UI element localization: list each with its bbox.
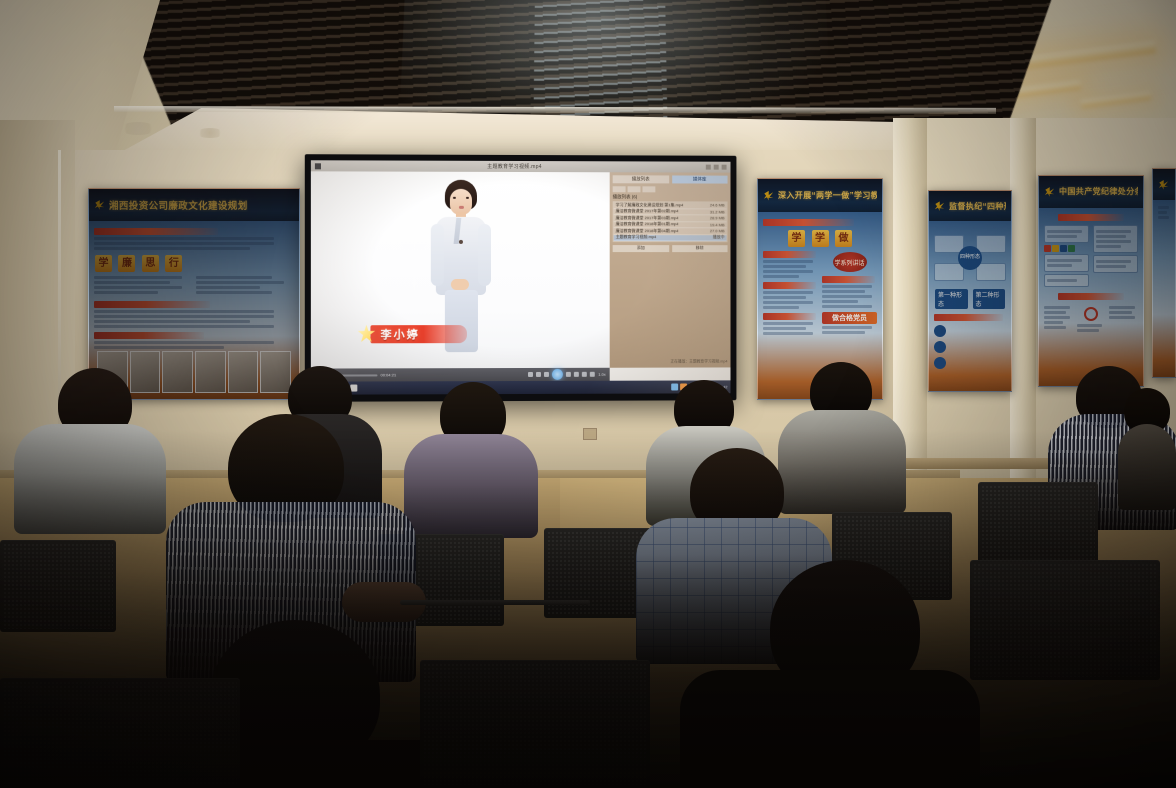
poster-text-line bbox=[763, 327, 806, 330]
poster-text-line bbox=[763, 265, 806, 268]
poster-photo bbox=[195, 351, 226, 393]
poster-text-line bbox=[1109, 311, 1131, 314]
poster-text-line bbox=[1047, 259, 1082, 262]
party-emblem-icon bbox=[934, 201, 945, 212]
poster-text-line bbox=[1044, 326, 1066, 329]
chair-mesh bbox=[3, 543, 113, 629]
party-emblem-icon bbox=[763, 190, 774, 201]
poster-column-left bbox=[1044, 304, 1073, 334]
chair-mesh bbox=[423, 663, 647, 785]
torso bbox=[680, 670, 980, 788]
poster-highlight-banner: 做合格党员 bbox=[822, 312, 877, 324]
toolbar-edit-button[interactable] bbox=[628, 186, 641, 192]
poster-subbox bbox=[1044, 274, 1089, 287]
poster-section-banner bbox=[1058, 293, 1124, 300]
poster-chip-row: 学 廉 思 行 bbox=[94, 253, 294, 273]
poster-text-line bbox=[1109, 316, 1135, 319]
presenter-arm-right bbox=[478, 224, 491, 286]
playlist-item-name: 廉洁教育微课堂 2017年第03期.mp4 bbox=[616, 215, 679, 221]
poster-header: 湘西投资公司廉政文化建设规划 bbox=[89, 189, 299, 221]
close-icon[interactable] bbox=[722, 165, 727, 170]
playlist-item-name: 廉洁教育微课堂 2018年第01期.mp4 bbox=[616, 221, 679, 227]
fullscreen-icon[interactable] bbox=[590, 372, 595, 377]
poster-title: 湘西投资公司廉政文化建设规划 bbox=[109, 198, 248, 212]
person-mid-lavender bbox=[404, 382, 538, 532]
tab-playlist[interactable]: 播放列表 bbox=[613, 175, 669, 183]
chair-mesh bbox=[3, 681, 237, 785]
poster-text-line bbox=[822, 285, 872, 288]
app-logo-icon bbox=[315, 163, 321, 169]
presenter-eye-right bbox=[466, 197, 469, 199]
poster-text-line bbox=[94, 242, 274, 245]
poster-text-line bbox=[1158, 206, 1169, 209]
poster-text-line bbox=[1158, 211, 1167, 214]
presenter-name: 李小婷 bbox=[381, 326, 420, 342]
poster-text-line bbox=[94, 315, 274, 318]
poster-column-right bbox=[1093, 223, 1138, 289]
poster-title: 深入开展“两学一做”学习教育 bbox=[778, 190, 877, 201]
remove-button[interactable]: 移除 bbox=[672, 245, 728, 252]
torso bbox=[14, 424, 166, 534]
poster-chip-row: 学 学 做 bbox=[763, 228, 877, 248]
legend-swatch bbox=[1060, 245, 1067, 252]
diagram-node bbox=[934, 263, 964, 281]
diagram-node bbox=[976, 263, 1006, 281]
poster-text-line bbox=[763, 291, 813, 294]
poster-chip: 行 bbox=[165, 255, 182, 272]
poster-section-banner bbox=[934, 314, 1003, 321]
poster-column-right: 学系列讲话 做合格党员 bbox=[822, 248, 877, 337]
poster-text-line bbox=[1158, 216, 1169, 219]
legend-swatch bbox=[1068, 245, 1075, 252]
poster-column-mid bbox=[1077, 304, 1106, 334]
poster-chip: 思 bbox=[142, 255, 159, 272]
presenter-eye-left bbox=[453, 197, 456, 199]
poster-column-right bbox=[196, 274, 294, 296]
poster-section-banner bbox=[763, 219, 854, 226]
playlist-item-name: 学习了解廉政文化建设规划 第1集.mp4 bbox=[616, 202, 684, 208]
poster-board-jilv-chufen-tiaoli[interactable]: 中国共产党纪律处分条例 bbox=[1038, 175, 1144, 387]
poster-text-line bbox=[1077, 329, 1099, 332]
toolbar-view-button[interactable] bbox=[642, 186, 655, 192]
name-plate: 李小婷 bbox=[370, 325, 467, 343]
poster-bullet bbox=[934, 357, 1006, 369]
poster-text-line bbox=[1047, 230, 1082, 233]
maximize-icon[interactable] bbox=[714, 165, 719, 170]
presenter-mouth bbox=[459, 206, 464, 209]
poster-text-line bbox=[94, 276, 182, 279]
chair-seat[interactable] bbox=[978, 482, 1098, 570]
poster-column-left bbox=[94, 274, 192, 296]
playlist-item-selected[interactable]: 主题教育学习视频.mp4 播放中 bbox=[614, 235, 727, 242]
poster-chip: 第一种形态 bbox=[935, 289, 968, 309]
poster-text-line bbox=[94, 286, 182, 289]
playlist-item-size: 播放中 bbox=[713, 234, 725, 240]
poster-text-line bbox=[763, 322, 813, 325]
poster-header: 深入开展“两学一做”学习教育 bbox=[758, 179, 882, 212]
chair-seat[interactable] bbox=[0, 540, 116, 632]
poster-body: 四种形态 第一种形态 第二种形态 bbox=[929, 221, 1011, 391]
playlist-footer[interactable]: 添加 移除 bbox=[613, 245, 728, 252]
poster-text-line bbox=[94, 325, 274, 328]
poster-text-line bbox=[1109, 306, 1135, 309]
poster-chip: 廉 bbox=[118, 255, 135, 272]
presenter-arm-left bbox=[431, 224, 444, 286]
playlist-item-size: 31.2 MB bbox=[710, 209, 725, 214]
poster-text-line bbox=[822, 331, 865, 334]
poster-highlight-circle: 学系列讲话 bbox=[833, 252, 867, 272]
poster-chip: 第二种形态 bbox=[973, 289, 1006, 309]
playlist-toolbar[interactable] bbox=[613, 186, 728, 192]
poster-text-line bbox=[94, 237, 274, 240]
poster-columns bbox=[94, 274, 294, 296]
poster-board-sizhong-xingtai[interactable]: 监督执纪“四种形态” 四种形态 第一种形态 第二种形态 bbox=[928, 190, 1012, 392]
poster-body bbox=[1153, 200, 1175, 377]
poster-photo bbox=[228, 351, 259, 393]
poster-text-line bbox=[1044, 311, 1066, 314]
poster-bullet bbox=[934, 341, 1006, 353]
bullet-icon bbox=[934, 325, 946, 337]
play-pause-button[interactable] bbox=[552, 369, 563, 380]
poster-text-line bbox=[196, 291, 272, 294]
poster-section-banner bbox=[94, 301, 210, 308]
poster-text-line bbox=[822, 305, 872, 308]
poster-text-line bbox=[822, 290, 865, 293]
poster-text-line bbox=[1047, 235, 1077, 238]
poster-subbox bbox=[1093, 225, 1138, 253]
poster-text-line bbox=[763, 260, 813, 263]
minimize-icon[interactable] bbox=[706, 165, 711, 170]
poster-text-line bbox=[763, 301, 813, 304]
star-icon bbox=[356, 324, 376, 344]
poster-text-line bbox=[763, 296, 806, 299]
poster-text-line bbox=[1096, 260, 1131, 263]
poster-header: 监督执纪“四种形态” bbox=[929, 191, 1011, 221]
poster-text-line bbox=[763, 270, 813, 273]
playlist-item-size: 19.4 MB bbox=[710, 222, 725, 227]
poster-bullet bbox=[934, 325, 1006, 337]
volume-icon[interactable] bbox=[582, 372, 587, 377]
poster-text-line bbox=[94, 346, 224, 349]
person-front-silhouette bbox=[680, 560, 980, 788]
poster-column-left bbox=[1044, 223, 1089, 289]
ceiling-spot-2 bbox=[196, 128, 224, 138]
stop-icon[interactable] bbox=[544, 372, 549, 377]
playlist-item-name: 主题教育学习视频.mp4 bbox=[616, 234, 657, 240]
poster-board-zhongguo-gongchandang[interactable]: 中国共产党 bbox=[1152, 168, 1176, 378]
playlist-rows[interactable]: 学习了解廉政文化建设规划 第1集.mp4 24.6 MB 廉洁教育微课堂 201… bbox=[613, 201, 728, 242]
poster-body bbox=[1039, 208, 1143, 387]
add-button[interactable]: 添加 bbox=[613, 245, 669, 252]
poster-text-line bbox=[1047, 264, 1072, 267]
diagram-center: 四种形态 bbox=[958, 246, 982, 270]
poster-section-banner bbox=[763, 313, 816, 320]
playlist-tabs[interactable]: 播放列表 媒体库 bbox=[613, 175, 728, 183]
ceiling-spot-1 bbox=[120, 122, 156, 135]
now-playing-note: 正在播放：主题教育学习视频.mp4 bbox=[670, 359, 727, 364]
poster-subbox bbox=[1044, 254, 1089, 272]
torso bbox=[404, 434, 538, 538]
bullet-icon bbox=[934, 357, 946, 369]
chair-mesh bbox=[973, 563, 1157, 677]
poster-text-line bbox=[763, 306, 799, 309]
chair-armrest[interactable] bbox=[400, 600, 590, 605]
legend-swatch bbox=[1044, 245, 1051, 252]
poster-section-banner bbox=[822, 276, 875, 283]
poster-text-line bbox=[1044, 321, 1063, 324]
poster-chip: 做 bbox=[835, 230, 852, 247]
poster-chip: 学 bbox=[812, 230, 829, 247]
diagram-node bbox=[976, 235, 1006, 253]
forward-icon[interactable] bbox=[566, 372, 571, 377]
screen-content[interactable]: 主题教育学习视频.mp4 bbox=[311, 160, 731, 394]
playlist-item-name: 廉洁教育微课堂 2018年第04期.mp4 bbox=[616, 228, 679, 234]
poster-diagram: 四种形态 bbox=[934, 231, 1006, 285]
poster-header: 中国共产党纪律处分条例 bbox=[1039, 176, 1143, 208]
poster-chip-row: 第一种形态 第二种形态 bbox=[934, 288, 1006, 310]
poster-title: 监督执纪“四种形态” bbox=[949, 201, 1006, 212]
chair-seat[interactable] bbox=[420, 660, 650, 788]
chair-seat[interactable] bbox=[0, 678, 240, 788]
poster-title: 中国共产党纪律处分条例 bbox=[1059, 186, 1138, 197]
poster-text-line bbox=[94, 341, 274, 344]
poster-header: 中国共产党 bbox=[1153, 169, 1175, 200]
poster-text-line bbox=[763, 275, 799, 278]
window-title: 主题教育学习视频.mp4 bbox=[324, 162, 703, 170]
poster-photo bbox=[162, 351, 193, 393]
playback-speed-label[interactable]: 1.0x bbox=[598, 372, 606, 377]
poster-text-line bbox=[763, 332, 813, 335]
playlist-item-size: 28.9 MB bbox=[710, 216, 725, 221]
person-back-left-white bbox=[14, 368, 164, 528]
bullet-icon bbox=[934, 341, 946, 353]
poster-columns bbox=[1044, 304, 1138, 334]
poster-icon-row bbox=[1044, 245, 1089, 252]
poster-text-line bbox=[1096, 240, 1131, 243]
poster-text-line bbox=[1047, 279, 1077, 282]
poster-text-line bbox=[94, 247, 250, 250]
poster-text-line bbox=[94, 281, 170, 284]
poster-text-line bbox=[1096, 265, 1126, 268]
warning-icon bbox=[1084, 307, 1098, 321]
poster-text-line bbox=[1077, 324, 1103, 327]
poster-text-line bbox=[1096, 245, 1121, 248]
poster-text-line bbox=[94, 291, 158, 294]
playlist-item-size: 24.6 MB bbox=[710, 203, 725, 208]
poster-text-line bbox=[1096, 235, 1126, 238]
poster-text-line bbox=[822, 300, 858, 303]
poster-columns: 学系列讲话 做合格党员 bbox=[763, 248, 877, 337]
poster-chip: 学 bbox=[788, 230, 805, 247]
playlist-panel[interactable]: 播放列表 媒体库 播放列表 (6) 学习了解廉政文化建设规划 第1集.mp4 2… bbox=[610, 172, 731, 367]
poster-text-line bbox=[1044, 306, 1070, 309]
playlist-item-name: 廉洁教育微课堂 2017年第02期.mp4 bbox=[616, 208, 679, 214]
poster-subbox bbox=[1093, 255, 1138, 273]
window-controls[interactable] bbox=[706, 165, 727, 170]
poster-text-line bbox=[94, 310, 274, 313]
presenter-name-banner: 李小婷 bbox=[356, 323, 467, 344]
previous-icon[interactable] bbox=[528, 372, 533, 377]
poster-column-right bbox=[1109, 304, 1138, 334]
poster-section-banner bbox=[1058, 214, 1124, 221]
poster-text-line bbox=[1096, 230, 1131, 233]
poster-text-line bbox=[94, 320, 250, 323]
presenter-pendant bbox=[459, 240, 463, 244]
elapsed-time: 00:04:21 bbox=[381, 372, 397, 377]
poster-text-line bbox=[196, 281, 284, 284]
poster-text-line bbox=[196, 286, 260, 289]
poster-columns bbox=[1044, 223, 1138, 289]
chair-seat[interactable] bbox=[970, 560, 1160, 680]
party-emblem-icon bbox=[94, 199, 105, 210]
poster-text-line bbox=[822, 295, 872, 298]
torso bbox=[1118, 424, 1176, 510]
next-icon[interactable] bbox=[574, 372, 579, 377]
room-scene: 湘西投资公司廉政文化建设规划 学 廉 思 行 bbox=[0, 0, 1176, 788]
party-emblem-icon bbox=[1044, 186, 1055, 197]
poster-section-banner bbox=[763, 282, 816, 289]
poster-section-banner bbox=[94, 332, 204, 339]
video-stage[interactable]: 李小婷 bbox=[311, 171, 610, 368]
chair-mesh bbox=[981, 485, 1095, 567]
rewind-icon[interactable] bbox=[536, 372, 541, 377]
poster-text-line bbox=[1044, 316, 1070, 319]
tab-media-library[interactable]: 媒体库 bbox=[672, 175, 728, 183]
poster-text-line bbox=[196, 276, 272, 279]
poster-text-line bbox=[822, 326, 872, 329]
playlist-header: 播放列表 (6) bbox=[613, 194, 728, 200]
poster-column-left bbox=[763, 248, 818, 337]
playlist-item-size: 27.0 MB bbox=[710, 229, 725, 234]
poster-section-banner bbox=[763, 251, 816, 258]
legend-swatch bbox=[1052, 245, 1059, 252]
wall-outlet bbox=[583, 428, 597, 440]
person-far-right bbox=[1118, 388, 1176, 508]
party-emblem-icon bbox=[1158, 179, 1169, 190]
wall-column-b bbox=[1010, 118, 1036, 538]
poster-chip: 学 bbox=[95, 255, 112, 272]
projection-screen[interactable]: 主题教育学习视频.mp4 bbox=[305, 154, 737, 402]
poster-section-banner bbox=[94, 228, 218, 235]
presenter-hands bbox=[451, 279, 469, 290]
toolbar-file-button[interactable] bbox=[613, 186, 626, 192]
poster-subbox bbox=[1044, 225, 1089, 243]
